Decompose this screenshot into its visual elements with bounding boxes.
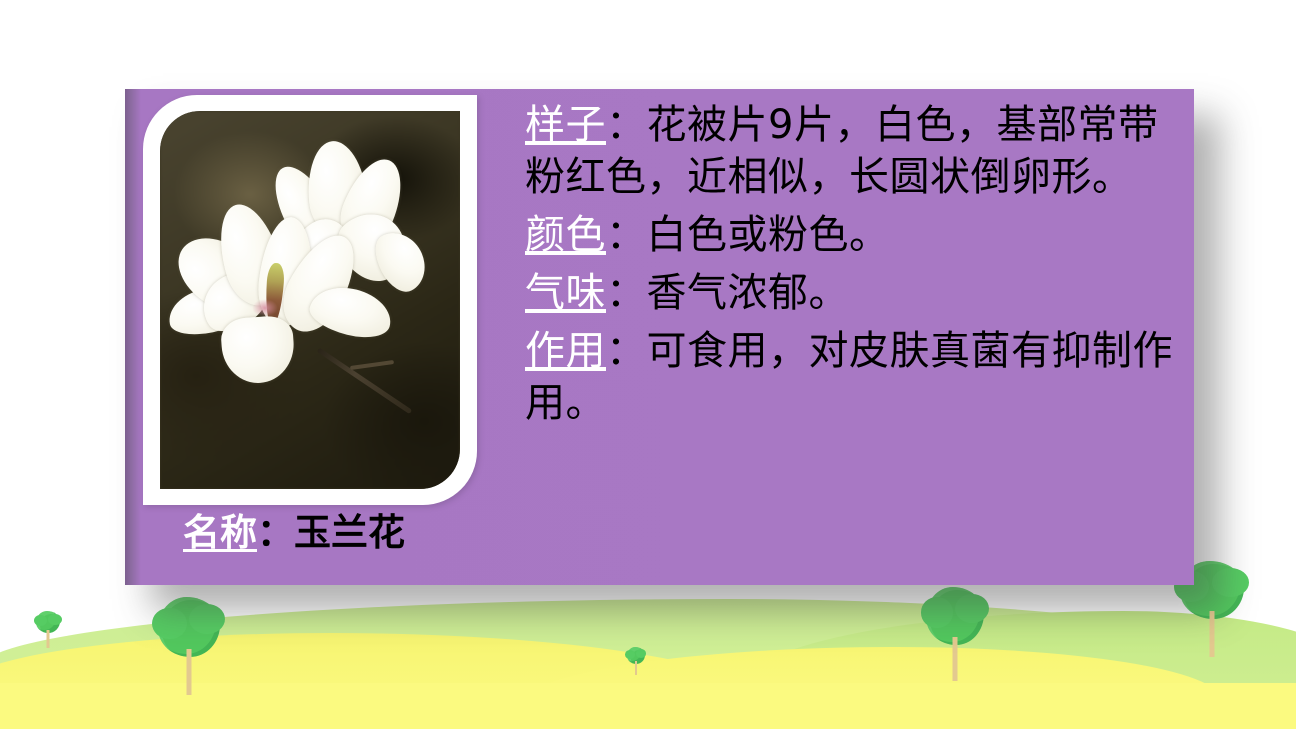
flower-name-separator: ： [257, 511, 294, 554]
green-hill-left [0, 599, 1296, 729]
tree-crown-icon [158, 597, 220, 657]
tree-icon-center-right [926, 587, 984, 679]
detail-separator: ： [606, 212, 647, 258]
yellow-field-left [0, 633, 760, 729]
detail-row-use: 作用：可食用，对皮肤真菌有抑制作用。 [525, 325, 1180, 429]
tree-icon-small-far-left [36, 611, 60, 647]
detail-separator: ： [606, 102, 647, 148]
tree-crown-icon [926, 587, 984, 645]
tree-trunk-icon [1210, 611, 1215, 657]
tree-trunk-icon [635, 661, 637, 675]
magnolia-flower-photo [160, 111, 460, 489]
flower-info-card: 名称：玉兰花 样子：花被片9片，白色，基部常带粉红色，近相似，长圆状倒卵形。 颜… [125, 89, 1194, 585]
detail-row-color: 颜色：白色或粉色。 [525, 209, 1180, 261]
flower-name-row: 名称：玉兰花 [183, 513, 405, 554]
detail-label-appearance: 样子 [525, 102, 606, 148]
detail-row-appearance: 样子：花被片9片，白色，基部常带粉红色，近相似，长圆状倒卵形。 [525, 99, 1180, 203]
tree-crown-icon [627, 647, 645, 664]
tree-icon-small-center [627, 647, 645, 675]
flower-stamen-blush [252, 299, 278, 317]
detail-value-smell: 香气浓郁。 [647, 270, 850, 316]
detail-separator: ： [606, 328, 647, 374]
flower-details-block: 样子：花被片9片，白色，基部常带粉红色，近相似，长圆状倒卵形。 颜色：白色或粉色… [525, 99, 1180, 435]
yellow-field-right [520, 647, 1220, 729]
detail-value-color: 白色或粉色。 [647, 212, 890, 258]
detail-label-use: 作用 [525, 328, 606, 374]
tree-trunk-icon [953, 637, 958, 681]
flower-name-label: 名称 [183, 511, 257, 554]
photo-frame [143, 95, 477, 505]
tree-crown-icon [36, 611, 60, 633]
detail-label-smell: 气味 [525, 270, 606, 316]
green-hill-right [736, 611, 1296, 729]
detail-row-smell: 气味：香气浓郁。 [525, 267, 1180, 319]
yellow-field-base [0, 683, 1296, 729]
tree-trunk-icon [187, 649, 192, 695]
tree-icon-left [158, 597, 220, 693]
detail-separator: ： [606, 270, 647, 316]
flower-name-value: 玉兰花 [294, 511, 405, 554]
tree-trunk-icon [47, 630, 50, 648]
detail-label-color: 颜色 [525, 212, 606, 258]
